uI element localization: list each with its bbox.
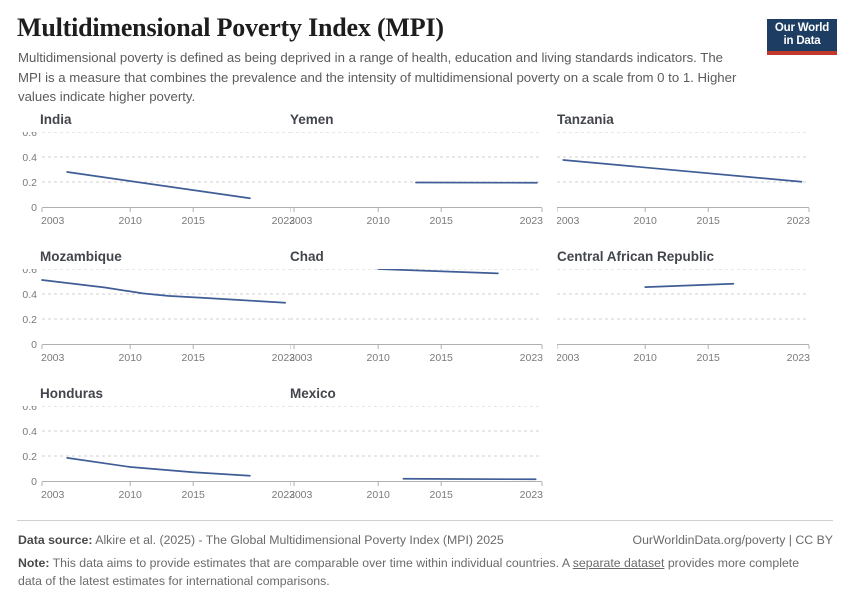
panel-plot-mexico[interactable]: 2003201020152023	[290, 406, 546, 507]
page-subtitle: Multidimensional poverty is defined as b…	[18, 48, 748, 107]
svg-text:2010: 2010	[367, 489, 391, 501]
note-text-before: This data aims to provide estimates that…	[53, 556, 570, 570]
panel-plot-chad[interactable]: 2003201020152023	[290, 269, 546, 370]
svg-text:2003: 2003	[557, 352, 580, 364]
svg-text:0.4: 0.4	[22, 152, 37, 164]
panel-title-mexico: Mexico	[290, 386, 336, 401]
note-line: Note: This data aims to provide estimate…	[18, 554, 808, 590]
panel-title-central-african-republic: Central African Republic	[557, 249, 714, 264]
svg-text:2003: 2003	[41, 352, 65, 364]
chart-panel-grid: India00.20.40.62003201020152023Yemen2003…	[0, 112, 850, 512]
svg-text:2023: 2023	[520, 352, 544, 364]
svg-text:0: 0	[31, 202, 37, 214]
panel-title-mozambique: Mozambique	[40, 249, 122, 264]
svg-text:2003: 2003	[290, 215, 313, 227]
data-source-line: Data source: Alkire et al. (2025) - The …	[18, 533, 504, 547]
panel-title-yemen: Yemen	[290, 112, 334, 127]
owid-logo-line1: Our World	[767, 22, 837, 35]
svg-text:0.6: 0.6	[22, 406, 37, 413]
svg-text:2015: 2015	[430, 489, 454, 501]
svg-text:0: 0	[31, 339, 37, 351]
panel-plot-yemen[interactable]: 2003201020152023	[290, 132, 546, 233]
data-source-label: Data source:	[18, 533, 93, 547]
svg-text:2023: 2023	[520, 215, 544, 227]
svg-text:2010: 2010	[634, 215, 658, 227]
page-title: Multidimensional Poverty Index (MPI)	[17, 13, 444, 43]
svg-text:0.2: 0.2	[22, 314, 37, 326]
svg-text:2003: 2003	[290, 489, 313, 501]
panel-title-chad: Chad	[290, 249, 324, 264]
svg-text:2010: 2010	[119, 489, 143, 501]
svg-text:2003: 2003	[290, 352, 313, 364]
page-header: Multidimensional Poverty Index (MPI) Mul…	[0, 0, 850, 110]
data-source-text: Alkire et al. (2025) - The Global Multid…	[95, 533, 504, 547]
svg-text:0.2: 0.2	[22, 451, 37, 463]
svg-text:2010: 2010	[634, 352, 658, 364]
svg-text:0.4: 0.4	[22, 426, 37, 438]
separate-dataset-link[interactable]: separate dataset	[573, 556, 665, 570]
page-footer: Data source: Alkire et al. (2025) - The …	[0, 520, 850, 600]
svg-text:2015: 2015	[430, 352, 454, 364]
note-label: Note:	[18, 556, 49, 570]
svg-text:2015: 2015	[182, 489, 206, 501]
svg-text:0.6: 0.6	[22, 269, 37, 276]
svg-text:0.6: 0.6	[22, 132, 37, 139]
svg-text:2023: 2023	[787, 215, 811, 227]
svg-text:0.2: 0.2	[22, 177, 37, 189]
panel-title-tanzania: Tanzania	[557, 112, 614, 127]
panel-plot-honduras[interactable]: 00.20.40.62003201020152023	[22, 406, 298, 507]
panel-plot-mozambique[interactable]: 00.20.40.62003201020152023	[22, 269, 298, 370]
panel-plot-india[interactable]: 00.20.40.62003201020152023	[22, 132, 298, 233]
svg-text:2015: 2015	[182, 215, 206, 227]
svg-text:2010: 2010	[119, 215, 143, 227]
svg-text:2003: 2003	[41, 215, 65, 227]
owid-logo[interactable]: Our World in Data	[767, 19, 837, 55]
svg-text:2015: 2015	[697, 352, 721, 364]
panel-title-india: India	[40, 112, 72, 127]
svg-text:2010: 2010	[119, 352, 143, 364]
panel-plot-central-african-republic[interactable]: 2003201020152023	[557, 269, 813, 370]
panel-title-honduras: Honduras	[40, 386, 103, 401]
svg-text:2023: 2023	[787, 352, 811, 364]
svg-text:2015: 2015	[182, 352, 206, 364]
attribution-text: OurWorldinData.org/poverty | CC BY	[633, 533, 833, 547]
svg-text:2010: 2010	[367, 215, 391, 227]
svg-text:2015: 2015	[697, 215, 721, 227]
panel-plot-tanzania[interactable]: 2003201020152023	[557, 132, 813, 233]
svg-text:0.4: 0.4	[22, 289, 37, 301]
svg-text:2015: 2015	[430, 215, 454, 227]
svg-text:2003: 2003	[557, 215, 580, 227]
owid-logo-line2: in Data	[767, 35, 837, 48]
svg-text:2023: 2023	[520, 489, 544, 501]
footer-divider	[17, 520, 833, 521]
svg-text:2010: 2010	[367, 352, 391, 364]
svg-text:0: 0	[31, 476, 37, 488]
svg-text:2003: 2003	[41, 489, 65, 501]
